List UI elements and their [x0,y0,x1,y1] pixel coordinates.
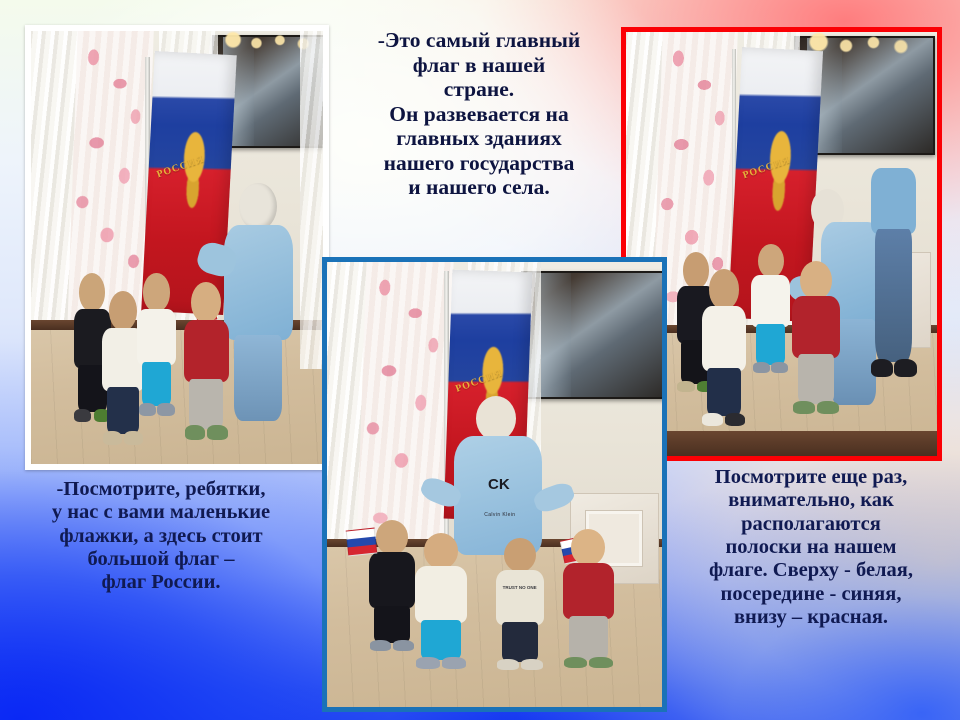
child-shoe [817,401,839,414]
stripes-caption: Посмотрите еще раз, внимательно, как рас… [666,466,956,630]
adult-shirt [871,168,917,234]
caption-line: флажки, а здесь стоит [8,525,314,548]
adult-jeans [875,229,913,361]
caption-line: нашего государства [336,151,622,176]
child-head [424,533,458,569]
slide-canvas: РОССИЯ [0,0,960,720]
caption-line: и нашего села. [336,175,622,200]
child-shorts [756,324,785,365]
teacher-figure [218,183,300,421]
caption-line: -Посмотрите, ребятки, [8,478,314,501]
main-flag-caption: -Это самый главный флаг в нашей стране. … [336,28,622,200]
small-flags-caption: -Посмотрите, ребятки, у нас с вами мален… [8,478,314,595]
child-figure-3: TRUST NO ONE [495,538,545,676]
child-pants [374,606,410,643]
child-figure-2 [701,269,748,430]
child-shorts-blue [421,620,462,660]
sheer-curtain-right [300,31,323,369]
caption-line: флаг в нашей [336,53,622,78]
child-shorts [142,362,171,406]
photo-scene-center: РОССИЯ CK Calvin Klein [327,262,662,707]
child-shoe [139,403,156,416]
shirt-logo-text: CK [478,477,520,492]
child-head [109,291,137,332]
russian-coat-of-arms [760,130,799,235]
child-head [191,282,221,323]
adult-shoe [871,359,894,377]
child-figure-4 [562,529,616,676]
child-shoe [157,403,174,416]
child-head [571,529,605,566]
child-shoe [771,362,788,373]
child-shoe [497,659,519,670]
child-head [709,269,739,309]
child-figure-4 [791,261,841,422]
photo-teacher-with-children-at-flag[interactable]: РОССИЯ [621,27,942,461]
child-shorts [798,354,834,404]
child-shorts [569,616,608,660]
child-shoe [589,657,613,669]
child-shoe [74,409,90,422]
child-shirt-red [792,296,840,357]
caption-line: флаг России. [8,571,314,594]
child-shoe [185,425,206,440]
child-shirt [702,306,747,370]
caption-line: -Это самый главный [336,28,622,53]
caption-line: внизу – красная. [666,606,956,629]
child-shorts [189,379,223,428]
caption-line: флаге. Сверху - белая, [666,559,956,582]
child-shoe [702,413,723,426]
caption-line: посередине - синяя, [666,583,956,606]
russian-coat-of-arms [173,130,212,230]
teacher-head [476,396,516,441]
photo-teacher-showing-flag[interactable]: РОССИЯ [25,25,329,470]
child-figure-4 [183,282,230,447]
child-shoe [207,425,228,440]
child-shoe [564,657,588,669]
child-shoe [725,413,746,426]
wall-tv [521,271,662,400]
child-head [800,261,832,300]
child-pants [502,622,538,662]
child-shirt-slogan: TRUST NO ONE [502,585,538,590]
child-shirt-black [369,552,415,608]
teacher-head [239,183,277,231]
child-shoe [103,431,122,445]
child-head [758,244,784,278]
child-pants [707,368,741,416]
child-shirt [415,566,466,623]
child-head [143,273,169,311]
child-figure-3 [750,244,790,380]
child-shoe [442,657,466,668]
teacher-torso [224,225,293,339]
child-shoe [793,401,815,414]
child-shoe [753,362,770,373]
child-shoe [416,657,440,668]
child-shoe [370,640,391,651]
caption-line: стране. [336,77,622,102]
child-pants [107,387,139,434]
child-head [504,538,536,572]
child-figure-2 [414,533,468,675]
child-figure-3 [136,273,177,420]
child-shoe [677,381,695,393]
child-shirt [137,309,176,365]
caption-line: внимательно, как [666,489,956,512]
child-shirt [751,275,790,327]
caption-line: Посмотрите еще раз, [666,466,956,489]
child-shirt-red [563,563,614,619]
floor-baseboard-front [626,431,937,456]
small-flag-child-1 [346,528,377,557]
child-shoe [124,431,143,445]
adult-shoe [894,359,917,377]
caption-line: Он развевается на [336,102,622,127]
child-shirt-trust [496,570,544,625]
caption-line: у нас с вами маленькие [8,501,314,524]
child-shoe [393,640,414,651]
caption-line: полоски на нашем [666,536,956,559]
teacher-legs [234,335,281,421]
shirt-logo-subtext: Calvin Klein [472,512,528,518]
adult-in-jeans [869,168,919,388]
caption-line: большой флаг – [8,548,314,571]
caption-line: располагаются [666,513,956,536]
child-head [376,520,408,555]
photo-scene-top-right: РОССИЯ [626,32,937,456]
child-shirt-red [184,320,229,383]
photo-children-with-small-flags[interactable]: РОССИЯ CK Calvin Klein [322,257,667,712]
caption-line: главных зданиях [336,126,622,151]
photo-scene-top-left: РОССИЯ [31,31,323,464]
child-shoe [521,659,543,670]
